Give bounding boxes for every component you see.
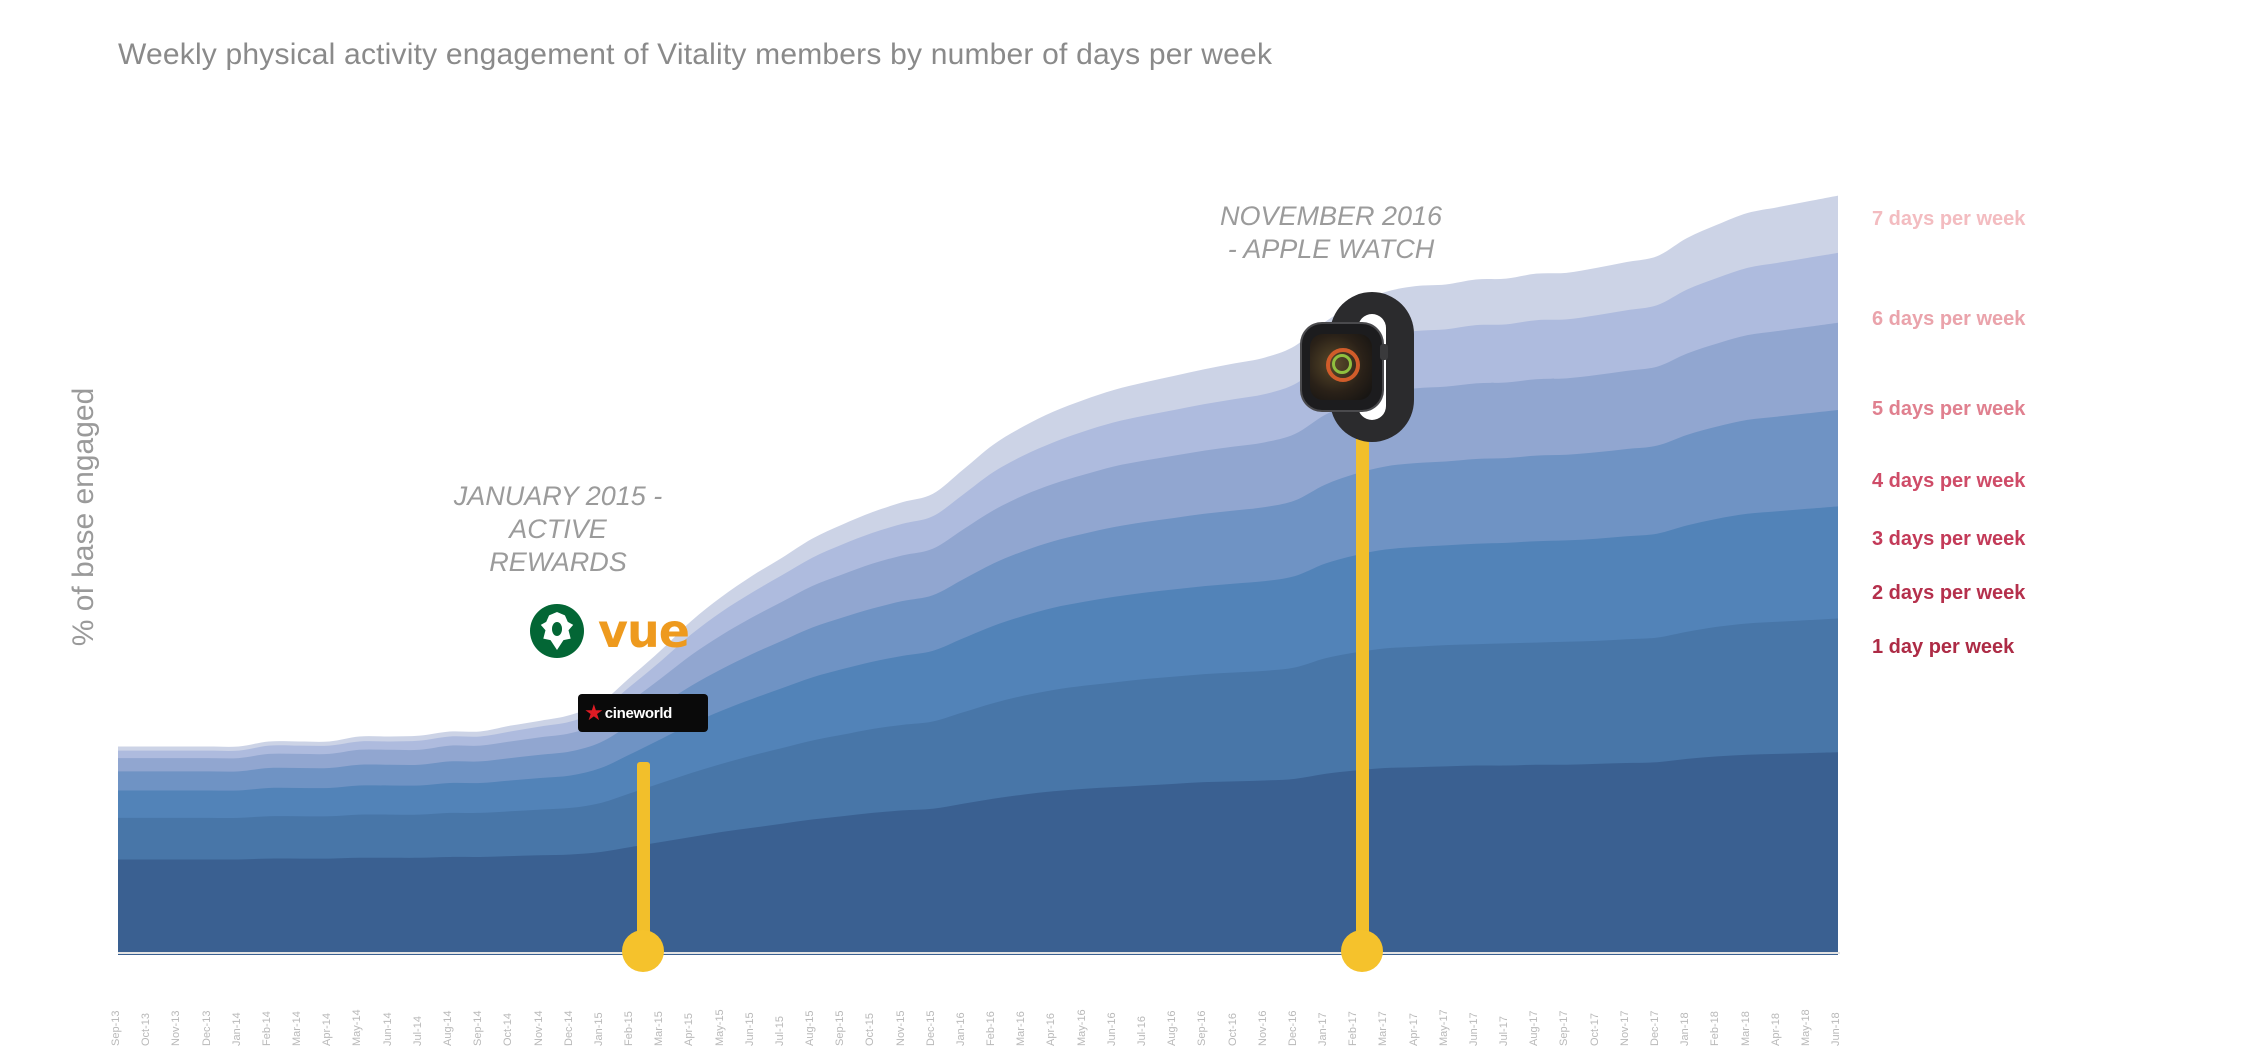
x-tick-label: Oct-13 <box>140 1013 152 1046</box>
partner-logos: vue <box>470 604 660 664</box>
x-tick-label: Feb-18 <box>1709 1011 1721 1046</box>
x-tick-label: Jun-17 <box>1468 1012 1480 1046</box>
x-tick-label: Mar-16 <box>1015 1011 1027 1046</box>
x-tick-label: Apr-15 <box>683 1013 695 1046</box>
marker-stem-apple-watch <box>1356 398 1369 953</box>
x-tick-label: May-18 <box>1800 1009 1812 1046</box>
x-tick-label: Feb-16 <box>985 1011 997 1046</box>
y-axis-label: % of base engaged <box>67 367 101 667</box>
x-tick-label: Jun-14 <box>382 1012 394 1046</box>
cineworld-logo: ★ cineworld <box>578 694 708 732</box>
x-tick-label: Jul-17 <box>1498 1016 1510 1046</box>
x-tick-label: Sep-17 <box>1558 1011 1570 1046</box>
x-tick-label: Jun-16 <box>1106 1012 1118 1046</box>
x-tick-label: Mar-15 <box>653 1011 665 1046</box>
legend-item-3-days[interactable]: 3 days per week <box>1872 528 2025 551</box>
x-tick-label: Sep-13 <box>110 1011 122 1046</box>
x-tick-label: May-17 <box>1438 1009 1450 1046</box>
x-tick-label: Jan-14 <box>231 1012 243 1046</box>
x-tick-label: Feb-14 <box>261 1011 273 1046</box>
x-tick-label: Dec-13 <box>201 1011 213 1046</box>
x-tick-label: Aug-15 <box>804 1011 816 1046</box>
x-tick-label: Dec-17 <box>1649 1011 1661 1046</box>
x-tick-label: Oct-15 <box>864 1013 876 1046</box>
x-axis-line <box>118 952 1840 954</box>
x-tick-label: Jan-18 <box>1679 1012 1691 1046</box>
x-tick-label: Jan-17 <box>1317 1012 1329 1046</box>
vue-logo: vue <box>598 608 689 654</box>
x-tick-label: Mar-14 <box>291 1011 303 1046</box>
legend-item-6-days[interactable]: 6 days per week <box>1872 308 2025 331</box>
x-axis-ticks: Sep-13Oct-13Nov-13Dec-13Jan-14Feb-14Mar-… <box>118 955 1838 1050</box>
x-tick-label: Mar-18 <box>1740 1011 1752 1046</box>
x-tick-label: Jan-16 <box>955 1012 967 1046</box>
x-tick-label: May-16 <box>1076 1009 1088 1046</box>
x-tick-label: May-15 <box>714 1009 726 1046</box>
x-tick-label: Jun-15 <box>744 1012 756 1046</box>
legend-item-7-days[interactable]: 7 days per week <box>1872 208 2025 231</box>
x-tick-label: Aug-16 <box>1166 1011 1178 1046</box>
x-tick-label: Nov-13 <box>170 1011 182 1046</box>
legend-item-4-days[interactable]: 4 days per week <box>1872 470 2025 493</box>
watch-face <box>1310 334 1372 400</box>
annotation-apple-watch: NOVEMBER 2016 - APPLE WATCH <box>1166 200 1496 266</box>
x-tick-label: Apr-16 <box>1045 1013 1057 1046</box>
x-tick-label: Dec-15 <box>925 1011 937 1046</box>
x-tick-label: May-14 <box>351 1009 363 1046</box>
x-tick-label: Dec-14 <box>563 1011 575 1046</box>
x-tick-label: Mar-17 <box>1377 1011 1389 1046</box>
x-tick-label: Feb-17 <box>1347 1011 1359 1046</box>
x-tick-label: Apr-18 <box>1770 1013 1782 1046</box>
x-tick-label: Oct-17 <box>1589 1013 1601 1046</box>
x-tick-label: Jul-16 <box>1136 1016 1148 1046</box>
x-tick-label: Jul-14 <box>412 1016 424 1046</box>
x-tick-label: Dec-16 <box>1287 1011 1299 1046</box>
watch-crown <box>1380 344 1388 360</box>
area-chart-svg <box>118 150 1838 955</box>
legend-item-2-days[interactable]: 2 days per week <box>1872 582 2025 605</box>
marker-stem-active-rewards <box>637 762 650 952</box>
x-tick-label: Apr-14 <box>321 1013 333 1046</box>
star-icon: ★ <box>584 702 604 724</box>
x-tick-label: Jun-18 <box>1830 1012 1842 1046</box>
x-tick-label: Sep-15 <box>834 1011 846 1046</box>
x-tick-label: Apr-17 <box>1408 1013 1420 1046</box>
legend: 7 days per week6 days per week5 days per… <box>1872 150 2202 960</box>
x-tick-label: Sep-14 <box>472 1011 484 1046</box>
cineworld-logo-text: cineworld <box>605 705 672 722</box>
x-tick-label: Feb-15 <box>623 1011 635 1046</box>
x-tick-label: Sep-16 <box>1196 1011 1208 1046</box>
annotation-active-rewards: JANUARY 2015 - ACTIVE REWARDS <box>418 480 698 579</box>
activity-ring-inner-icon <box>1332 354 1352 374</box>
page-title: Weekly physical activity engagement of V… <box>118 38 1272 72</box>
marker-dot-active-rewards[interactable] <box>622 930 664 972</box>
x-tick-label: Oct-16 <box>1227 1013 1239 1046</box>
starbucks-logo-icon <box>530 604 584 658</box>
x-tick-label: Nov-16 <box>1257 1011 1269 1046</box>
x-tick-label: Nov-15 <box>895 1011 907 1046</box>
x-tick-label: Jul-15 <box>774 1016 786 1046</box>
legend-item-5-days[interactable]: 5 days per week <box>1872 398 2025 421</box>
x-tick-label: Jan-15 <box>593 1012 605 1046</box>
legend-item-1-days[interactable]: 1 day per week <box>1872 636 2014 659</box>
x-tick-label: Nov-17 <box>1619 1011 1631 1046</box>
x-tick-label: Aug-14 <box>442 1011 454 1046</box>
apple-watch-image <box>1296 292 1432 442</box>
x-tick-label: Oct-14 <box>502 1013 514 1046</box>
x-tick-label: Nov-14 <box>533 1011 545 1046</box>
x-tick-label: Aug-17 <box>1528 1011 1540 1046</box>
marker-dot-apple-watch[interactable] <box>1341 930 1383 972</box>
stacked-area-plot <box>118 150 1838 955</box>
